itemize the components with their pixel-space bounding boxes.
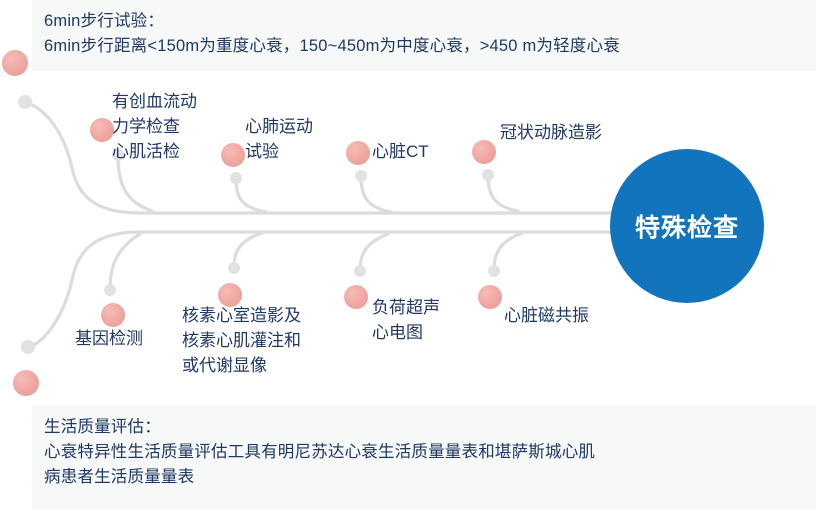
stem-ct	[361, 177, 391, 212]
upper-branch-end-tip-dot	[18, 95, 32, 109]
lower-branch-end-tip-dot	[21, 340, 35, 354]
node-label-cardiac-mri: 心脏磁共振	[504, 303, 589, 328]
tip-dot-stress-echocardiogram-ecg	[354, 265, 366, 277]
hub-special-examination[interactable]: 特殊检查	[610, 149, 764, 303]
node-label-stress-echocardiogram-ecg: 负荷超声 心电图	[372, 295, 440, 345]
node-label-cardiopulmonary-exercise-test: 心肺运动 试验	[245, 114, 313, 164]
node-dot-cardiac-mri[interactable]	[478, 285, 502, 309]
node-label-coronary-angiography: 冠状动脉造影	[500, 120, 602, 145]
hub-label: 特殊检查	[635, 208, 739, 244]
tip-dot-radionuclide-ventriculography-perfusion	[228, 262, 240, 274]
node-dot-invasive-hemodynamics-biopsy[interactable]	[90, 118, 114, 142]
node-dot-genetic-testing[interactable]	[101, 303, 125, 327]
node-label-invasive-hemodynamics-biopsy: 有创血流动 力学检查 心肌活检	[112, 89, 197, 164]
tip-dot-genetic-testing	[104, 284, 116, 296]
stem-stress	[360, 234, 388, 270]
node-dot-cardiac-ct[interactable]	[346, 141, 370, 165]
bottom-note-box: 生活质量评估： 心衰特异性生活质量评估工具有明尼苏达心衰生活质量量表和堪萨斯城心…	[32, 405, 816, 510]
tip-dot-cardiopulmonary-exercise-test	[230, 172, 242, 184]
bottom-note-line-1: 生活质量评估：	[44, 415, 816, 440]
bottom-note-line-3: 病患者生活质量量表	[44, 465, 816, 490]
stem-cpet	[236, 179, 266, 212]
tip-dot-cardiac-mri	[488, 265, 500, 277]
stem-mri	[494, 233, 522, 270]
node-dot-stress-echocardiogram-ecg[interactable]	[344, 285, 368, 309]
stem-invasive	[118, 156, 152, 211]
stem-genetic	[110, 234, 140, 289]
upper-branch-end-dot[interactable]	[2, 50, 28, 76]
node-dot-coronary-angiography[interactable]	[472, 140, 496, 164]
tip-dot-coronary-angiography	[482, 169, 494, 181]
lower-branch-end-dot[interactable]	[13, 370, 39, 396]
node-dot-cardiopulmonary-exercise-test[interactable]	[221, 143, 245, 167]
stem-angio	[488, 176, 518, 211]
stem-radionuclide	[234, 233, 262, 267]
infographic-canvas: 6min步行试验： 6min步行距离<150m为重度心衰，150~450m为中度…	[0, 0, 816, 510]
node-label-radionuclide-ventriculography-perfusion: 核素心室造影及 核素心肌灌注和 或代谢显像	[182, 303, 301, 378]
tip-dot-cardiac-ct	[355, 170, 367, 182]
bottom-note-line-2: 心衰特异性生活质量评估工具有明尼苏达心衰生活质量量表和堪萨斯城心肌	[44, 440, 816, 465]
node-label-genetic-testing: 基因检测	[75, 326, 143, 351]
node-label-cardiac-ct: 心脏CT	[372, 139, 429, 164]
